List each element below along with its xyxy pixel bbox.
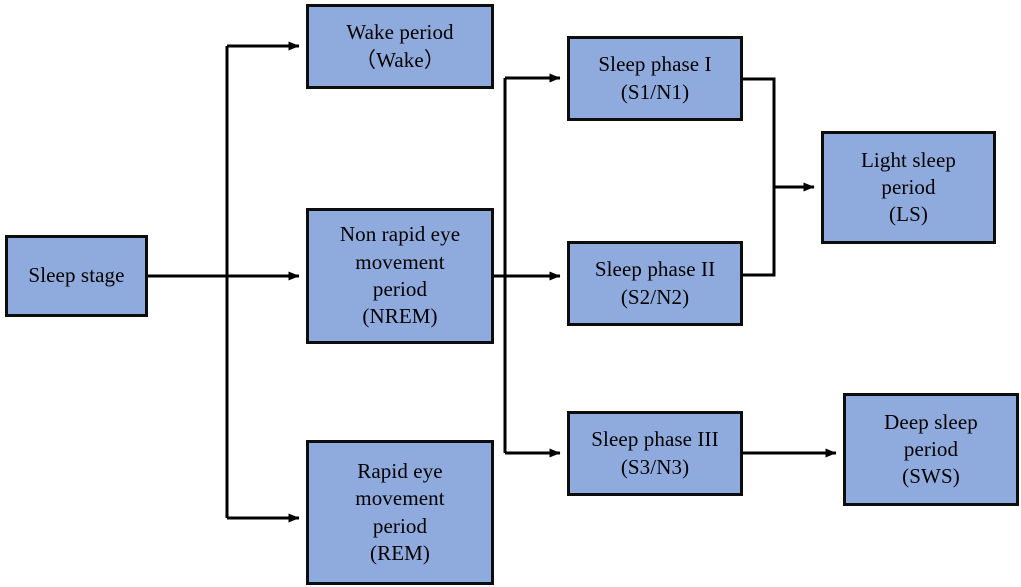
node-label-line: period bbox=[373, 513, 427, 540]
node-rapid-eye-movement-period[interactable]: Rapid eye movement period (REM) bbox=[306, 440, 494, 585]
node-wake-period[interactable]: Wake period （Wake） bbox=[306, 4, 494, 89]
node-label-line: Rapid eye bbox=[357, 458, 442, 485]
node-label-line: （Wake） bbox=[355, 47, 445, 74]
node-label-line: (SWS) bbox=[902, 463, 960, 490]
node-sleep-phase-1[interactable]: Sleep phase I (S1/N1) bbox=[567, 36, 743, 121]
node-non-rapid-eye-movement-period[interactable]: Non rapid eye movement period (NREM) bbox=[306, 208, 494, 344]
node-label-line: movement bbox=[355, 249, 444, 276]
node-label-line: Light sleep bbox=[861, 147, 956, 174]
node-label-line: (NREM) bbox=[362, 303, 437, 330]
flowchart-canvas: Sleep stage Wake period （Wake） Non rapid… bbox=[0, 0, 1021, 587]
node-label-line: (S1/N1) bbox=[621, 79, 689, 106]
node-label-line: (LS) bbox=[889, 201, 928, 228]
node-label-line: Sleep phase I bbox=[598, 51, 711, 78]
node-label-line: Deep sleep bbox=[884, 409, 978, 436]
node-label-line: Wake period bbox=[346, 19, 453, 46]
node-sleep-stage[interactable]: Sleep stage bbox=[5, 235, 148, 317]
edge-s1-s2-merge-to-light-sleep bbox=[743, 79, 814, 275]
node-sleep-phase-3[interactable]: Sleep phase III (S3/N3) bbox=[567, 411, 743, 496]
node-deep-sleep-period[interactable]: Deep sleep period (SWS) bbox=[843, 393, 1019, 506]
node-label-line: movement bbox=[355, 485, 444, 512]
node-label-line: Sleep phase II bbox=[595, 256, 715, 283]
node-sleep-phase-2[interactable]: Sleep phase II (S2/N2) bbox=[567, 241, 743, 326]
node-label-line: (S2/N2) bbox=[621, 284, 689, 311]
node-label-line: period bbox=[373, 276, 427, 303]
node-light-sleep-period[interactable]: Light sleep period (LS) bbox=[821, 131, 996, 244]
node-label-line: Non rapid eye bbox=[340, 221, 460, 248]
node-label-line: (REM) bbox=[370, 540, 430, 567]
node-label-line: Sleep phase III bbox=[591, 426, 718, 453]
node-label-line: period bbox=[904, 436, 958, 463]
node-label-line: (S3/N3) bbox=[621, 454, 689, 481]
node-label-line: Sleep stage bbox=[28, 262, 124, 289]
node-label-line: period bbox=[881, 174, 935, 201]
